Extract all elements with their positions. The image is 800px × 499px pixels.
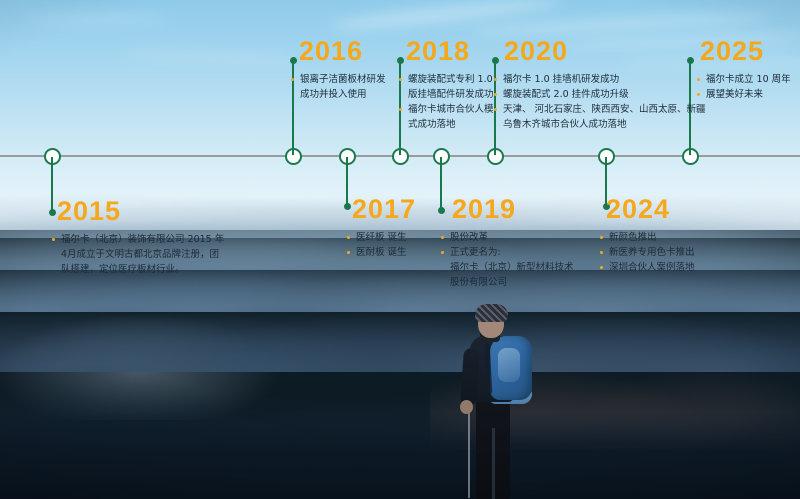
timeline-bullet: 螺旋装配式专利 1.0 (399, 72, 494, 87)
timeline-bullet: 天津、 河北石家庄、陕西西安、山西太原、新疆 (494, 102, 706, 117)
timeline-entry-2015[interactable]: 2015福尔卡（北京）装饰有限公司 2015 年4月成立于文明古都北京品牌注册，… (52, 198, 224, 277)
timeline-bullet: 医纤板 诞生 (347, 230, 416, 245)
timeline-bullet: 福尔卡（北京）装饰有限公司 2015 年 (52, 232, 224, 247)
timeline-bullet-list-2017: 医纤板 诞生医耐板 诞生 (347, 230, 416, 260)
timeline-bullet: 股份有限公司 (441, 275, 574, 290)
timeline-entry-2020[interactable]: 2020福尔卡 1.0 挂墙机研发成功螺旋装配式 2.0 挂件成功升级天津、 河… (494, 38, 706, 132)
timeline-bullet: 正式更名为: (441, 245, 574, 260)
hiker-hand (460, 400, 473, 414)
timeline-bullet: 版挂墙配件研发成功 (399, 87, 494, 102)
timeline-bullet: 福尔卡城市合伙人模 (399, 102, 494, 117)
cloud-wisp-icon (20, 14, 170, 24)
trekking-pole-icon (468, 408, 470, 498)
timeline-bullet: 成功并投入使用 (291, 87, 386, 102)
mountain-ridge-front (0, 412, 800, 499)
timeline-bullet-list-2015: 福尔卡（北京）装饰有限公司 2015 年4月成立于文明古都北京品牌注册，团队搭建… (52, 232, 224, 277)
timeline-bullet: 新颜色推出 (600, 230, 695, 245)
timeline-year-label-2020: 2020 (504, 38, 706, 65)
timeline-year-label-2019: 2019 (452, 196, 574, 223)
timeline-year-label-2025: 2025 (700, 38, 791, 65)
timeline-infographic: 2015福尔卡（北京）装饰有限公司 2015 年4月成立于文明古都北京品牌注册，… (0, 0, 800, 499)
timeline-entry-2025[interactable]: 2025福尔卡成立 10 周年展望美好未来 (697, 38, 791, 102)
timeline-bullet: 福尔卡（北京）新型材料技术 (441, 260, 574, 275)
timeline-bullet-list-2018: 螺旋装配式专利 1.0版挂墙配件研发成功福尔卡城市合伙人模式成功落地 (399, 72, 494, 132)
backpack-panel (498, 348, 520, 382)
timeline-bullet: 展望美好未来 (697, 87, 791, 102)
timeline-bullet: 式成功落地 (399, 117, 494, 132)
timeline-bullet: 4月成立于文明古都北京品牌注册，团 (52, 247, 224, 262)
timeline-year-label-2015: 2015 (57, 198, 224, 225)
timeline-bullet-list-2020: 福尔卡 1.0 挂墙机研发成功螺旋装配式 2.0 挂件成功升级天津、 河北石家庄… (494, 72, 706, 132)
hiker-figure (440, 300, 560, 499)
hiker-leg-split (492, 428, 495, 499)
timeline-bullet-list-2019: 股份改革正式更名为:福尔卡（北京）新型材料技术股份有限公司 (441, 230, 574, 290)
timeline-bullet-list-2024: 新颜色推出新医养专用色卡推出深圳合伙人案例落地 (600, 230, 695, 275)
timeline-entry-2016[interactable]: 2016银离子洁菌板材研发成功并投入使用 (291, 38, 386, 102)
timeline-bullet: 队搭建，定位医疗板材行业。 (52, 262, 224, 277)
timeline-year-label-2018: 2018 (406, 38, 494, 65)
timeline-entry-2017[interactable]: 2017医纤板 诞生医耐板 诞生 (347, 196, 416, 260)
timeline-year-label-2017: 2017 (352, 196, 416, 223)
timeline-bullet: 银离子洁菌板材研发 (291, 72, 386, 87)
timeline-bullet-list-2025: 福尔卡成立 10 周年展望美好未来 (697, 72, 791, 102)
timeline-bullet: 深圳合伙人案例落地 (600, 260, 695, 275)
timeline-bullet: 福尔卡成立 10 周年 (697, 72, 791, 87)
hiker-hat-icon (475, 304, 508, 322)
timeline-bullet: 股份改革 (441, 230, 574, 245)
timeline-year-label-2024: 2024 (606, 196, 695, 223)
timeline-bullet-list-2016: 银离子洁菌板材研发成功并投入使用 (291, 72, 386, 102)
timeline-year-label-2016: 2016 (299, 38, 386, 65)
timeline-bullet: 医耐板 诞生 (347, 245, 416, 260)
timeline-bullet: 螺旋装配式 2.0 挂件成功升级 (494, 87, 706, 102)
timeline-bullet: 福尔卡 1.0 挂墙机研发成功 (494, 72, 706, 87)
timeline-entry-2018[interactable]: 2018螺旋装配式专利 1.0版挂墙配件研发成功福尔卡城市合伙人模式成功落地 (399, 38, 494, 132)
timeline-bullet: 新医养专用色卡推出 (600, 245, 695, 260)
timeline-entry-2019[interactable]: 2019股份改革正式更名为:福尔卡（北京）新型材料技术股份有限公司 (441, 196, 574, 290)
timeline-entry-2024[interactable]: 2024新颜色推出新医养专用色卡推出深圳合伙人案例落地 (600, 196, 695, 275)
timeline-bullet: 乌鲁木齐城市合伙人成功落地 (494, 117, 706, 132)
